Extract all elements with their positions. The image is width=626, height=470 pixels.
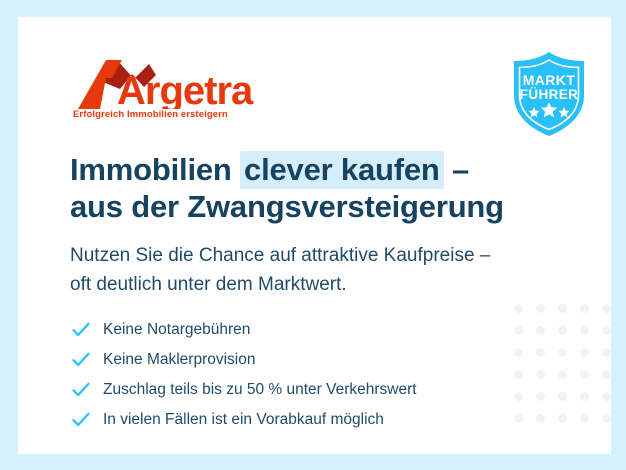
headline-part-2: –	[444, 152, 469, 187]
list-item: Keine Maklerprovision	[70, 345, 540, 375]
benefit-label: Keine Maklerprovision	[103, 351, 256, 368]
headline-line-2: aus der Zwangsversteigerung	[70, 189, 504, 224]
promo-banner: Argetra Erfolgreich Immobilien ersteiger…	[0, 0, 626, 470]
svg-text:Argetra: Argetra	[117, 69, 254, 109]
subheadline: Nutzen Sie die Chance auf attraktive Kau…	[70, 241, 590, 299]
benefit-label: Zuschlag teils bis zu 50 % unter Verkehr…	[103, 381, 417, 398]
subheadline-line-1: Nutzen Sie die Chance auf attraktive Kau…	[70, 245, 490, 266]
check-icon	[72, 412, 90, 428]
badge-line-1: MARKT	[507, 72, 591, 88]
benefit-list: Keine Notargebühren Keine Maklerprovisio…	[70, 315, 540, 435]
list-item: In vielen Fällen ist ein Vorabkauf mögli…	[70, 405, 540, 435]
list-item: Keine Notargebühren	[70, 315, 540, 345]
brand-tagline: Erfolgreich Immobilien ersteigern	[73, 109, 228, 120]
headline-highlight: clever kaufen	[240, 151, 444, 189]
list-item: Zuschlag teils bis zu 50 % unter Verkehr…	[70, 375, 540, 405]
brand-logo[interactable]: Argetra Erfolgreich Immobilien ersteiger…	[70, 57, 270, 127]
headline-part-1: Immobilien	[70, 152, 240, 187]
banner-card: Argetra Erfolgreich Immobilien ersteiger…	[18, 17, 611, 454]
check-icon	[72, 352, 90, 368]
argetra-roof-a-logo-icon: Argetra	[70, 57, 270, 109]
market-leader-badge: MARKT FÜHRER	[507, 50, 591, 138]
check-icon	[72, 382, 90, 398]
badge-line-2: FÜHRER	[507, 87, 591, 102]
benefit-label: Keine Notargebühren	[103, 321, 250, 338]
headline: Immobilien clever kaufen – aus der Zwang…	[70, 151, 590, 225]
benefit-label: In vielen Fällen ist ein Vorabkauf mögli…	[103, 411, 384, 428]
check-icon	[72, 322, 90, 338]
subheadline-line-2: oft deutlich unter dem Marktwert.	[70, 274, 347, 295]
